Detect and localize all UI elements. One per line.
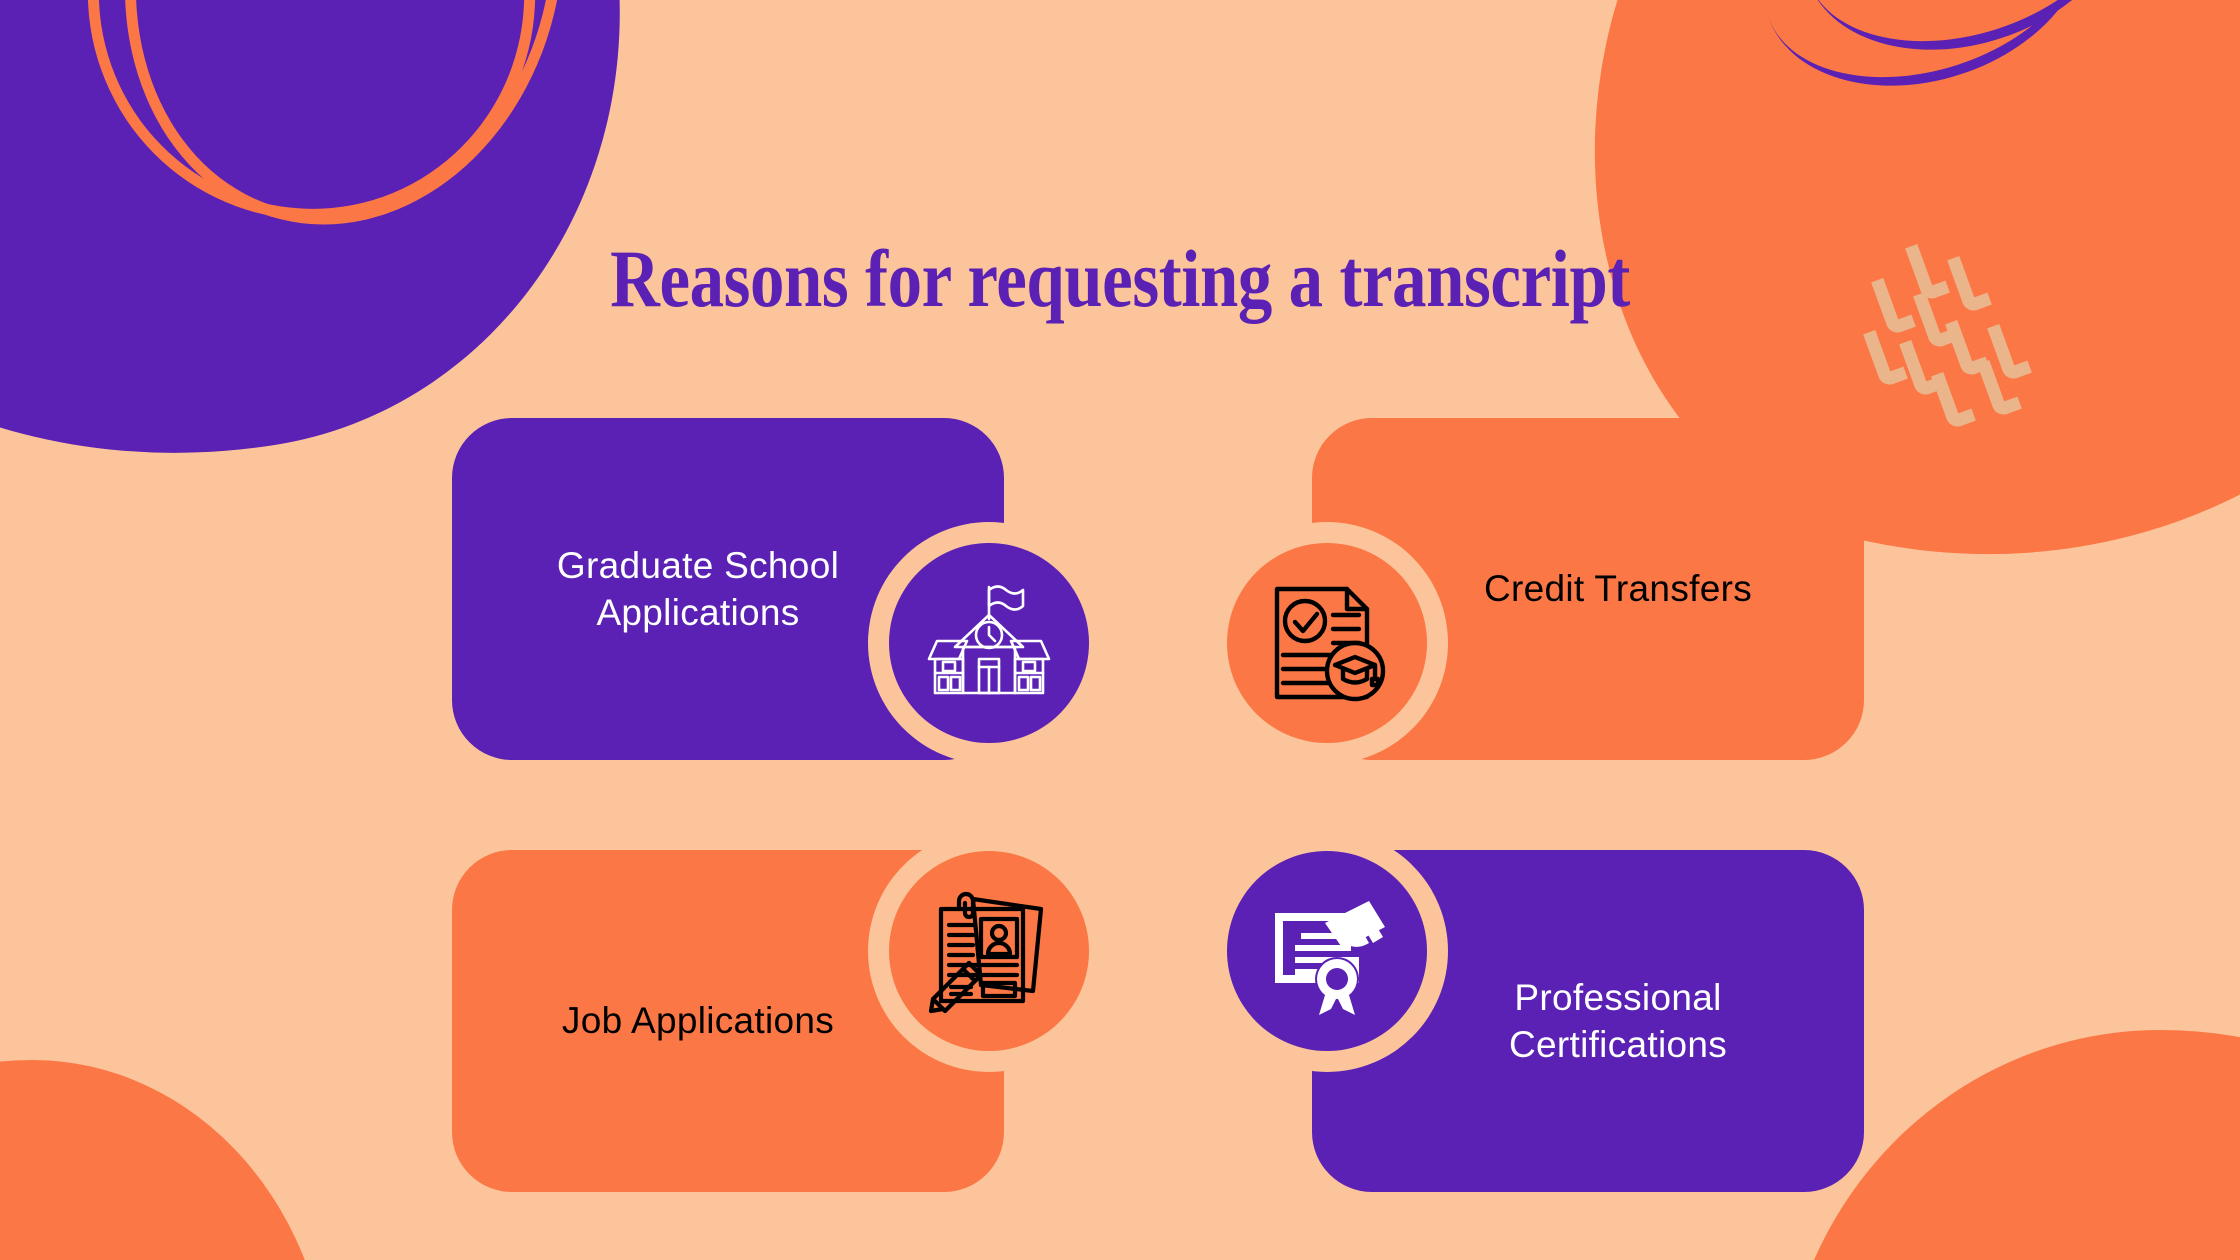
orange-ring-outline-2 — [71, 0, 618, 271]
resume-pencil-icon — [889, 851, 1089, 1051]
verified-document-graduation-icon — [1227, 543, 1427, 743]
icon-disc-ring-professional-certifications — [1206, 830, 1448, 1072]
card-label-professional-certifications: Professional Certifications — [1449, 974, 1727, 1069]
page-title: Reasons for requesting a transcript — [179, 232, 2061, 326]
orange-ring-outline-1 — [40, 0, 583, 267]
school-building-icon — [889, 543, 1089, 743]
card-label-credit-transfers: Credit Transfers — [1424, 565, 1752, 612]
certificate-cap-ribbon-icon — [1227, 851, 1427, 1051]
card-label-graduate-school-applications: Graduate School Applications — [557, 542, 899, 637]
icon-disc-ring-graduate-school-applications — [868, 522, 1110, 764]
icon-disc-ring-job-applications — [868, 830, 1110, 1072]
slide-canvas: Reasons for requesting a transcript Grad… — [0, 0, 2240, 1260]
purple-curve-line-2 — [1773, 0, 2158, 89]
purple-curve-line-1 — [1733, 0, 2118, 125]
icon-disc-ring-credit-transfers — [1206, 522, 1448, 764]
orange-blob-bottom-left — [0, 1060, 330, 1260]
card-label-job-applications: Job Applications — [562, 997, 894, 1044]
